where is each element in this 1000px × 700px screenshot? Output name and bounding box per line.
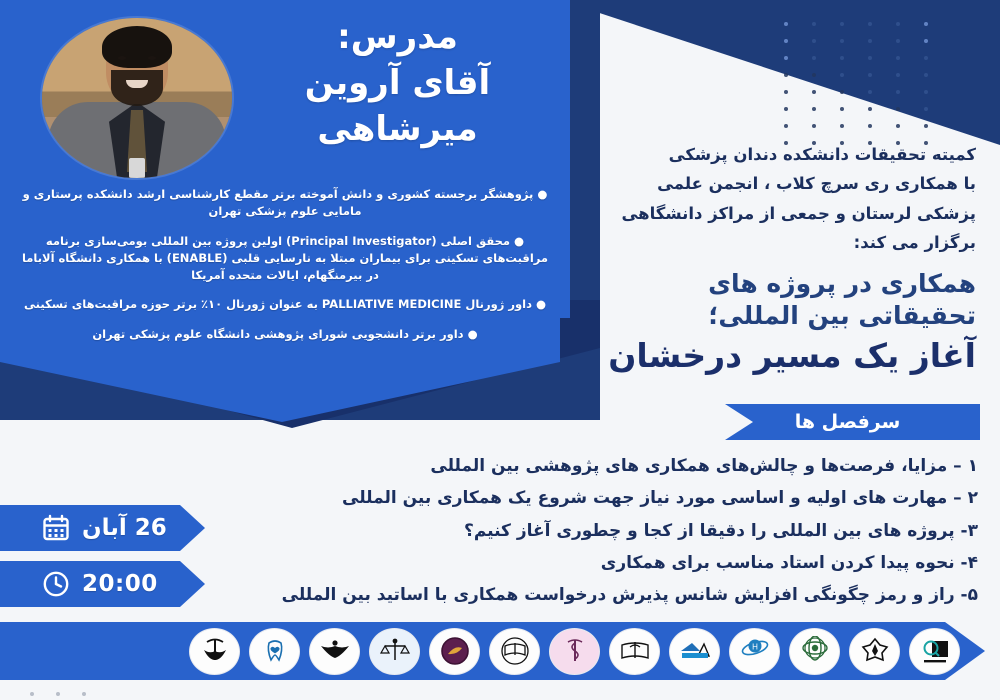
credential-item: ● پژوهشگر برجسته کشوری و دانش آموخته برت… — [8, 186, 562, 221]
svg-text:H: H — [752, 643, 758, 652]
date-value: 26 آبان — [82, 515, 167, 541]
purple-crest-logo — [429, 628, 480, 675]
photo-eye-right — [148, 56, 156, 60]
sponsor-logo-strip: H — [0, 622, 1000, 680]
title-line-2: تحقیقاتی بین المللی؛ — [456, 300, 976, 332]
calendar-icon — [42, 514, 70, 542]
tooth-heart-logo — [249, 628, 300, 675]
speaker-name-block: مدرس: آقای آروین میرشاهی — [250, 14, 545, 153]
topics-list: ۱ – مزایا، فرصت‌ها و چالش‌های همکاری های… — [178, 450, 978, 611]
footer-dots-decoration — [30, 692, 86, 696]
page-title: همکاری در پروژه های تحقیقاتی بین المللی؛… — [456, 268, 976, 376]
imsa-logo — [669, 628, 720, 675]
orbit-health-logo: H — [729, 628, 780, 675]
photo-beard — [111, 70, 163, 106]
clock-icon — [42, 570, 70, 598]
dot-grid-decoration — [760, 22, 928, 158]
topic-item: ۲ – مهارت های اولیه و اساسی مورد نیاز جه… — [178, 482, 978, 514]
organizer-line-1: کمیته تحقیقات دانشکده دندان پزشکی — [576, 140, 976, 169]
bird-emblem-logo — [309, 628, 360, 675]
topic-item: ۳- پروژه های بین المللی را دقیقا از کجا … — [178, 515, 978, 547]
title-line-1: همکاری در پروژه های — [456, 268, 976, 300]
speaker-name-line-1: آقای آروین — [250, 60, 545, 106]
topic-item: ۴- نحوه پیدا کردن استاد مناسب برای همکار… — [178, 547, 978, 579]
photo-hair — [102, 26, 172, 68]
flower-emblem-logo — [849, 628, 900, 675]
speaker-photo — [42, 18, 232, 178]
time-value: 20:00 — [82, 571, 158, 597]
speaker-name-line-2: میرشاهی — [250, 106, 545, 152]
atom-research-logo — [789, 628, 840, 675]
book-caduceus-logo — [609, 628, 660, 675]
research-club-logo — [909, 628, 960, 675]
photo-eye-left — [118, 56, 126, 60]
caduceus-pink-logo — [549, 628, 600, 675]
scales-emblem-logo — [369, 628, 420, 675]
open-book-emblem-logo — [489, 628, 540, 675]
organizer-block: کمیته تحقیقات دانشکده دندان پزشکی با همک… — [576, 140, 976, 257]
medical-crest-logo — [189, 628, 240, 675]
organizer-line-2: با همکاری ری سرچ کلاب ، انجمن علمی — [576, 169, 976, 198]
topic-item: ۱ – مزایا، فرصت‌ها و چالش‌های همکاری های… — [178, 450, 978, 482]
topic-item: ۵- راز و رمز چگونگی افزایش شانس پذیرش در… — [178, 579, 978, 611]
time-badge: 20:00 — [0, 561, 205, 607]
speaker-label: مدرس: — [250, 14, 545, 60]
date-badge: 26 آبان — [0, 505, 205, 551]
photo-badge — [129, 158, 145, 178]
organizer-line-4: برگزار می کند: — [576, 228, 976, 257]
topics-banner-label: سرفصل ها — [795, 411, 911, 433]
title-highlight: آغاز یک مسیر درخشان — [456, 336, 976, 376]
organizer-line-3: پزشکی لرستان و جمعی از مراکز دانشگاهی — [576, 199, 976, 228]
webinar-poster: مدرس: آقای آروین میرشاهی ● پژوهشگر برجست… — [0, 0, 1000, 700]
topics-banner: سرفصل ها — [725, 404, 980, 440]
